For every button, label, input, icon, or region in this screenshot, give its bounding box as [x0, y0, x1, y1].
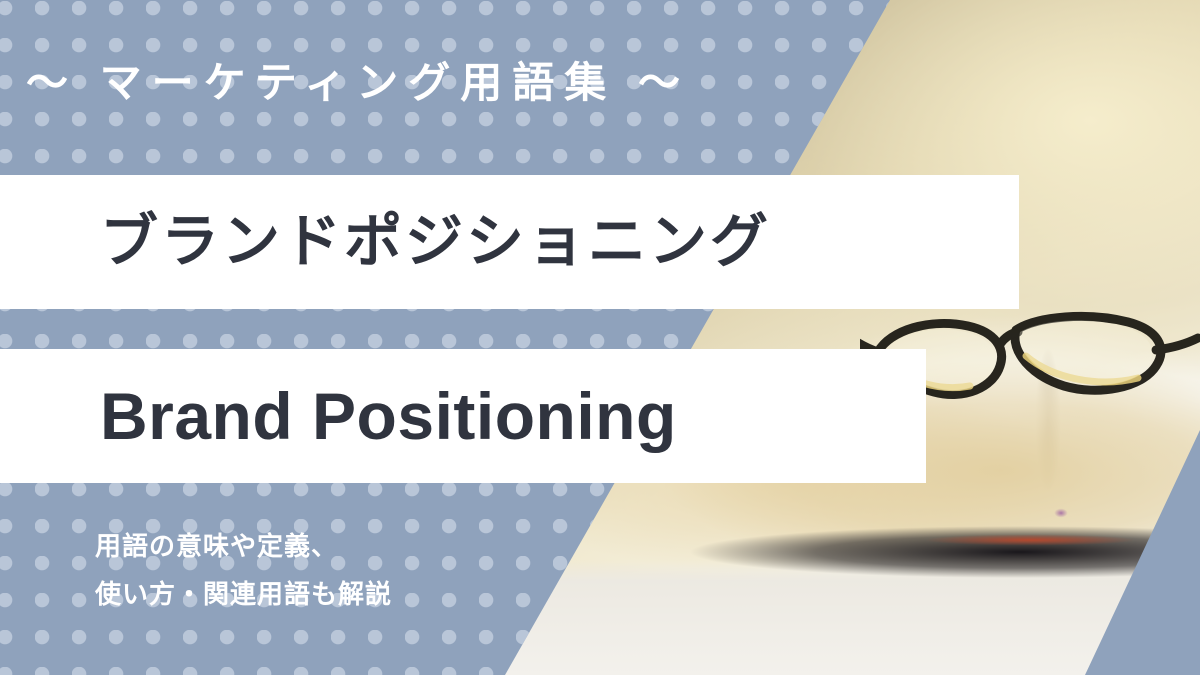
lede-line-2: 使い方・関連用語も解説 — [95, 570, 392, 618]
english-title-band: Brand Positioning — [0, 349, 926, 483]
thumbnail-canvas: 〜 マーケティング用語集 〜 ブランドポジショニング Brand Positio… — [0, 0, 1200, 675]
japanese-term-title: ブランドポジショニング — [100, 213, 771, 271]
english-term-title: Brand Positioning — [100, 383, 677, 449]
japanese-title-band: ブランドポジショニング — [0, 175, 1019, 309]
eyebrow-category-label: 〜 マーケティング用語集 〜 — [26, 62, 690, 104]
lede-line-1: 用語の意味や定義、 — [95, 522, 392, 570]
lede-text-block: 用語の意味や定義、 使い方・関連用語も解説 — [95, 522, 392, 618]
